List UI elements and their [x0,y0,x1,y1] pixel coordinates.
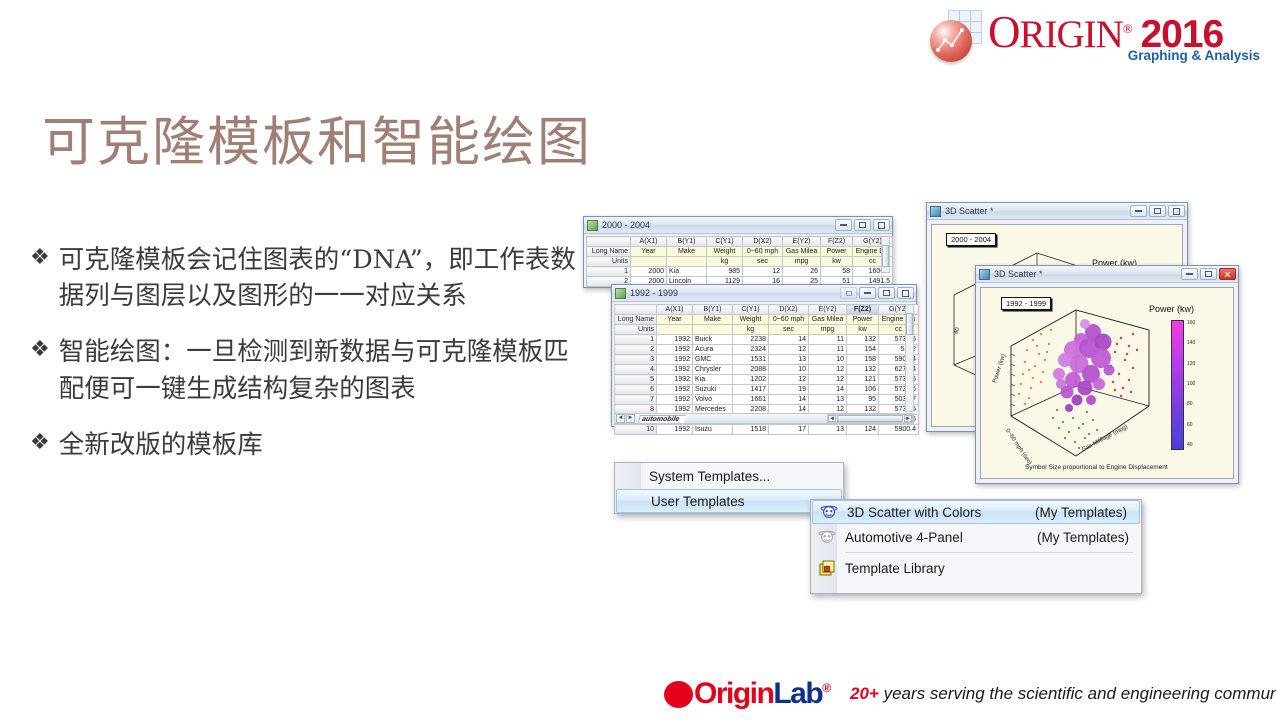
table-row[interactable]: 12000Kia9851226581606.2 [587,267,893,277]
table-cell[interactable]: 12 [743,267,783,277]
window-title: 1992 - 1999 [630,288,840,298]
table-cell[interactable]: 12 [809,365,847,375]
worksheet-icon [587,220,598,231]
origin-brand-logo: ORIGIN® 2016 Graphing & Analysis [930,4,1260,70]
column-header[interactable]: A(X1) [657,305,693,315]
bullet-diamond-icon: ❖ [30,334,50,406]
table-cell[interactable]: 1202 [733,375,769,385]
bullet-diamond-icon: ❖ [30,242,50,314]
table-cell[interactable]: 1992 [657,345,693,355]
table-cell[interactable]: 1661 [733,395,769,405]
column-header[interactable]: C(Y1) [733,305,769,315]
menu-item-label: User Templates [651,494,829,509]
long-name-cell[interactable]: Year [657,315,693,325]
table-cell[interactable]: 1518 [733,425,769,435]
minimize-button[interactable] [835,219,852,231]
table-cell[interactable]: Chrysler [693,365,733,375]
table-cell[interactable]: 132 [847,335,879,345]
long-name-cell[interactable]: Power [821,247,853,257]
table-cell[interactable]: 154 [847,345,879,355]
units-cell[interactable]: kw [847,325,879,335]
worksheet-window-1992-1999[interactable]: 1992 - 1999 A(X1)B(Y1)C(Y1)D(X2)E(Y2)F(Z… [611,284,917,427]
menu-item-label: Automotive 4-Panel [845,530,1011,545]
units-cell[interactable] [657,325,693,335]
units-cell[interactable]: kg [733,325,769,335]
table-cell[interactable]: 2324 [733,345,769,355]
row-number: 1 [587,267,631,277]
maximize-button[interactable] [878,287,895,299]
window-buttons[interactable] [840,287,914,299]
row-number: 6 [615,385,657,395]
window-buttons[interactable] [1130,205,1185,217]
table-cell[interactable]: 10 [809,355,847,365]
long-name-cell[interactable]: 0~60 mph [769,315,809,325]
table-cell[interactable]: Buick [693,335,733,345]
row-number: 4 [615,365,657,375]
row-label: Units [587,257,631,267]
table-cell[interactable]: Acura [693,345,733,355]
colorbar-title: Power (kw) [1149,304,1194,314]
menu-item-template-library[interactable]: Template Library [811,555,1141,581]
table-cell[interactable]: 13 [769,355,809,365]
table-cell[interactable]: Suzuki [693,385,733,395]
column-header[interactable]: E(Y2) [783,237,821,247]
restore-button[interactable] [840,287,857,299]
orb-sphere [930,20,972,62]
brand-tagline: Graphing & Analysis [1128,48,1260,63]
row-number: 10 [615,425,657,435]
column-header[interactable] [587,237,631,247]
graph-window-3d-scatter-front[interactable]: 3D Scatter * 1992 - 1999 [975,265,1239,484]
row-number: 1 [615,335,657,345]
page-title: 可克隆模板和智能绘图 [42,100,592,176]
window-buttons[interactable] [1181,268,1236,280]
graph-canvas[interactable]: 1992 - 1999 [980,287,1234,479]
table-header-row: A(X1)B(Y1)C(Y1)D(X2)E(Y2)F(Z2)G(Y2) [587,237,893,247]
menu-item-label: System Templates... [649,469,831,484]
units-row: Unitskgsecmpgkwcc [587,257,893,267]
table-cell[interactable]: 2088 [733,365,769,375]
table-row[interactable]: 61992Suzuki141719141065736.5 [615,385,919,395]
table-cell[interactable]: Kia [667,267,707,277]
table-row[interactable]: 51992Kia120212121215736.5 [615,375,919,385]
sheet-next-button[interactable]: ► [626,414,635,423]
table-cell[interactable]: 11 [809,345,847,355]
table-cell[interactable]: 1992 [657,395,693,405]
row-number: 7 [615,395,657,405]
list-item: ❖ 全新改版的模板库 [30,427,590,463]
column-header[interactable]: E(Y2) [809,305,847,315]
horizontal-scrollbar[interactable]: ◄ ► [827,414,913,423]
worksheet-table[interactable]: A(X1)B(Y1)C(Y1)D(X2)E(Y2)F(Z2)G(Y2)Long … [586,236,893,287]
minimize-button[interactable] [1130,205,1147,217]
table-cell[interactable]: 19 [769,385,809,395]
sheet-prev-button[interactable]: ◄ [616,414,625,423]
row-label: Units [615,325,657,335]
table-cell[interactable]: 1992 [657,425,693,435]
table-cell[interactable]: 1992 [657,385,693,395]
table-cell[interactable]: 26 [783,267,821,277]
graph-icon [930,206,941,217]
graph-caption: Symbol Size proportional to Engine Displ… [1025,464,1168,471]
scroll-left-button[interactable]: ◄ [828,415,836,422]
worksheet-window-2000-2004[interactable]: 2000 - 2004 A(X1)B(Y1)C(Y1)D(X2)E(Y2)F(Z… [583,216,893,288]
column-header[interactable]: F(Z2) [821,237,853,247]
table-cell[interactable]: 132 [847,365,879,375]
table-row[interactable]: 71992Volvo16611413955031.7 [615,395,919,405]
table-cell[interactable]: 1992 [657,335,693,345]
table-cell[interactable]: 12 [769,345,809,355]
originlab-wordmark: OriginLab® [694,677,830,711]
menu-item-source: (My Templates) [1035,505,1127,520]
units-row: Unitskgsecmpgkwcc [615,325,919,335]
window-titlebar[interactable]: 3D Scatter * [976,266,1238,283]
vertical-scrollbar[interactable] [905,304,914,412]
table-row[interactable]: 21992Acura232412111545212 [615,345,919,355]
bullet-diamond-icon: ❖ [30,427,50,463]
colorbar-tick-label: 40 [1187,442,1193,448]
close-button[interactable] [1168,205,1185,217]
row-number: 3 [615,355,657,365]
originlab-lab-text: Lab [773,677,822,710]
table-cell[interactable]: 2238 [733,335,769,345]
graph-icon [979,269,990,280]
window-buttons[interactable] [835,219,890,231]
long-name-cell[interactable]: Gas Milea [783,247,821,257]
colorbar-tick-label: 160 [1187,320,1195,326]
window-titlebar[interactable]: 3D Scatter * [927,203,1187,220]
tagline-years: 20+ [850,684,879,703]
template-face-icon [819,502,839,522]
table-header-row: A(X1)B(Y1)C(Y1)D(X2)E(Y2)F(Z2)G(Y2) [615,305,919,315]
units-cell[interactable] [693,325,733,335]
brand-rest: RIGIN [1020,13,1123,56]
table-cell[interactable]: 1417 [733,385,769,395]
bullet-text: 可克隆模板会记住图表的“DNA”，即工作表数据列与图层以及图形的一一对应关系 [59,242,590,314]
menu-item-label: Template Library [845,561,1129,576]
table-cell[interactable]: 5900.4 [879,425,919,435]
table-row[interactable]: 41992Chrysler208810121326277.4 [615,365,919,375]
table-cell[interactable]: 14 [769,395,809,405]
origin-orb-icon [930,10,984,62]
menu-item-user-templates[interactable]: User Templates [616,489,842,513]
window-titlebar[interactable]: 1992 - 1999 [612,285,916,302]
table-cell[interactable]: 14 [769,335,809,345]
close-button[interactable] [1219,268,1236,280]
close-button[interactable] [873,219,890,231]
table-cell[interactable]: 158 [847,355,879,365]
units-cell[interactable]: sec [769,325,809,335]
sheet-tab-automobile[interactable]: automobile [638,415,686,423]
table-cell[interactable]: Volvo [693,395,733,405]
table-cell[interactable]: 985 [707,267,743,277]
window-title: 3D Scatter * [945,206,1130,216]
originlab-footer-logo: OriginLab® 20+ years serving the scienti… [664,676,1264,714]
table-cell[interactable]: 11 [809,335,847,345]
units-cell[interactable]: sec [743,257,783,267]
table-cell[interactable]: Kia [693,375,733,385]
colorbar-tick-label: 140 [1187,340,1195,346]
table-row[interactable]: 11992Buick223814111325736.5 [615,335,919,345]
maximize-button[interactable] [1200,268,1217,280]
table-row[interactable]: 101992Isuzu151817131245900.4 [615,425,919,435]
long-name-cell[interactable]: Make [667,247,707,257]
long-name-cell[interactable]: Weight [733,315,769,325]
table-cell[interactable]: 58 [821,267,853,277]
close-button[interactable] [897,287,914,299]
minimize-button[interactable] [1181,268,1198,280]
table-cell[interactable]: 1992 [657,365,693,375]
table-cell[interactable]: Isuzu [693,425,733,435]
column-header[interactable]: B(Y1) [667,237,707,247]
row-number: 5 [615,375,657,385]
table-cell[interactable]: 13 [809,395,847,405]
table-cell[interactable]: 1531 [733,355,769,365]
column-header[interactable]: F(Z2) [847,305,879,315]
table-cell[interactable]: 124 [847,425,879,435]
table-cell[interactable]: 121 [847,375,879,385]
worksheet-icon [615,288,626,299]
maximize-button[interactable] [1149,205,1166,217]
minimize-button[interactable] [859,287,876,299]
table-cell[interactable]: 1992 [657,375,693,385]
table-cell[interactable]: 10 [769,365,809,375]
footer-tagline: 20+ years serving the scientific and eng… [850,684,1276,704]
long-name-row: Long NameYearMakeWeight0~60 mphGas Milea… [587,247,893,257]
maximize-button[interactable] [854,219,871,231]
table-cell[interactable]: 2000 [631,267,667,277]
worksheet-grid[interactable]: A(X1)B(Y1)C(Y1)D(X2)E(Y2)F(Z2)G(Y2)Long … [584,234,892,289]
menu-item-label: 3D Scatter with Colors [847,505,1009,520]
worksheet-footer[interactable]: ◄ ► automobile ◄ ► [614,413,914,424]
originlab-o-mark [664,681,693,708]
units-cell[interactable]: kw [821,257,853,267]
long-name-cell[interactable]: Gas Milea [809,315,847,325]
table-cell[interactable]: 17 [769,425,809,435]
units-cell[interactable]: kg [707,257,743,267]
colorbar-tick-label: 120 [1187,361,1195,367]
menu-item-system-templates[interactable]: System Templates... [615,463,843,489]
table-row[interactable]: 31992GMC153113101585900.4 [615,355,919,365]
units-cell[interactable]: mpg [809,325,847,335]
registered-mark: ® [1123,21,1132,36]
column-header[interactable]: B(Y1) [693,305,733,315]
units-cell[interactable]: mpg [783,257,821,267]
bullet-list: ❖ 可克隆模板会记住图表的“DNA”，即工作表数据列与图层以及图形的一一对应关系… [30,242,590,483]
menu-item-automotive-4-panel[interactable]: Automotive 4-Panel (My Templates) [811,524,1141,550]
scrollbar-thumb[interactable] [837,415,903,422]
window-title: 2000 - 2004 [602,220,835,230]
table-cell[interactable]: 13 [809,425,847,435]
long-name-cell[interactable]: Year [631,247,667,257]
colorbar-tick-label: 100 [1187,381,1195,387]
template-face-icon [817,527,837,547]
table-cell[interactable]: 95 [847,395,879,405]
column-header[interactable]: C(Y1) [707,237,743,247]
bullet-text: 全新改版的模板库 [59,427,263,463]
window-titlebar[interactable]: 2000 - 2004 [584,217,892,234]
menu-item-source: (My Templates) [1037,530,1129,545]
row-number: 2 [615,345,657,355]
vertical-scrollbar[interactable] [881,236,890,273]
registered-mark: ® [822,681,829,695]
table-cell[interactable]: 12 [769,375,809,385]
template-library-icon [817,558,837,578]
window-title: 3D Scatter * [994,269,1181,279]
units-cell[interactable] [631,257,667,267]
column-header[interactable]: A(X1) [631,237,667,247]
menu-item-3d-scatter-with-colors[interactable]: 3D Scatter with Colors (My Templates) [812,500,1140,524]
originlab-origin-text: Origin [694,677,773,710]
row-label: Long Name [615,315,657,325]
table-cell[interactable]: 14 [809,385,847,395]
row-label: Long Name [587,247,631,257]
long-name-row: Long NameYearMakeWeight0~60 mphGas Milea… [615,315,919,325]
long-name-cell[interactable]: Weight [707,247,743,257]
colorbar-tick-label: 60 [1187,422,1193,428]
column-header[interactable]: D(X2) [769,305,809,315]
scrollbar-thumb[interactable] [906,313,913,335]
bullet-text: 智能绘图：一旦检测到新数据与可克隆模板匹配便可一键生成结构复杂的图表 [59,334,590,406]
colorbar [1171,320,1184,450]
column-header[interactable] [615,305,657,315]
scrollbar-thumb[interactable] [882,245,889,267]
table-cell[interactable]: 1992 [657,355,693,365]
user-templates-submenu[interactable]: 3D Scatter with Colors (My Templates) Au… [810,499,1142,594]
units-cell[interactable] [667,257,707,267]
menu-separator [845,552,1133,553]
list-item: ❖ 可克隆模板会记住图表的“DNA”，即工作表数据列与图层以及图形的一一对应关系 [30,242,590,314]
long-name-cell[interactable]: 0~60 mph [743,247,783,257]
list-item: ❖ 智能绘图：一旦检测到新数据与可克隆模板匹配便可一键生成结构复杂的图表 [30,334,590,406]
column-header[interactable]: D(X2) [743,237,783,247]
long-name-cell[interactable]: Make [693,315,733,325]
scroll-right-button[interactable]: ► [904,415,912,422]
table-cell[interactable]: 106 [847,385,879,395]
brand-o: O [988,7,1020,57]
table-cell[interactable]: 12 [809,375,847,385]
colorbar-tick-label: 80 [1187,401,1193,407]
long-name-cell[interactable]: Power [847,315,879,325]
tagline-text: years serving the scientific and enginee… [879,684,1276,703]
table-cell[interactable]: GMC [693,355,733,365]
